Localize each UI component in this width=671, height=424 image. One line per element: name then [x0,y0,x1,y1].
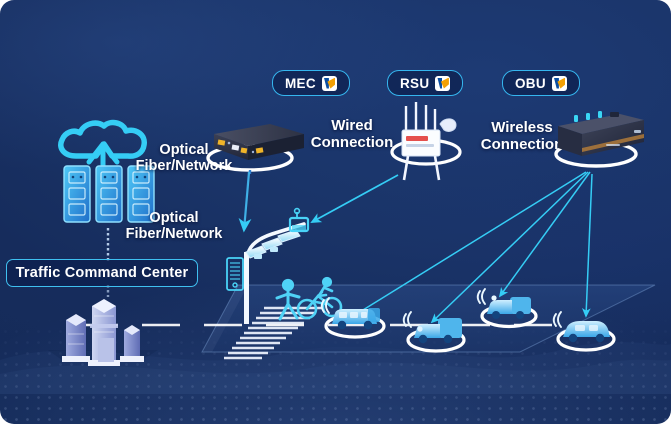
vehicle-truck [398,308,472,356]
arrow-rsu-to-signal [312,175,398,222]
arrow-obu-to-suv [500,172,590,296]
wifi-waves-icon [404,312,411,327]
vehicle-van [316,296,390,342]
diagram-canvas: MEC RSU OBU [0,0,671,424]
wifi-waves-icon [478,289,485,304]
vehicle-suv [472,286,542,332]
arrow-mec-to-pole [244,172,249,230]
wifi-waves-icon [554,312,561,327]
connection-arrows [0,0,671,424]
vehicle-car [548,308,620,354]
arrow-obu-to-car [586,174,592,316]
wifi-waves-icon [322,298,329,313]
